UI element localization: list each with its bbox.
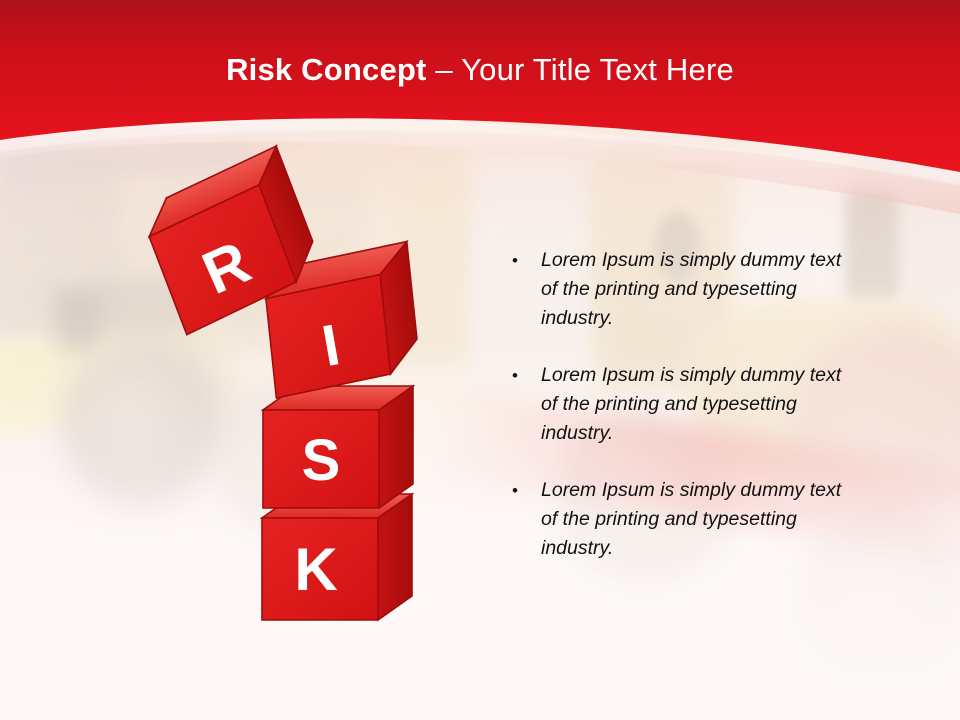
bullet-item: • Lorem Ipsum is simply dummy text of th… [512,246,842,333]
bullet-marker: • [512,246,541,333]
bullet-marker: • [512,361,541,448]
bullet-item: • Lorem Ipsum is simply dummy text of th… [512,361,842,448]
bullet-list: • Lorem Ipsum is simply dummy text of th… [512,246,842,591]
bullet-text: Lorem Ipsum is simply dummy text of the … [541,476,842,563]
cube-s-letter: S [302,428,341,493]
bullet-item: • Lorem Ipsum is simply dummy text of th… [512,476,842,563]
cube-k: K [262,494,412,620]
cube-k-letter: K [294,536,337,603]
bullet-text: Lorem Ipsum is simply dummy text of the … [541,246,842,333]
bullet-marker: • [512,476,541,563]
cube-s: S [263,386,413,508]
slide-canvas: Risk Concept – Your Title Text Here K [0,0,960,720]
bullet-text: Lorem Ipsum is simply dummy text of the … [541,361,842,448]
